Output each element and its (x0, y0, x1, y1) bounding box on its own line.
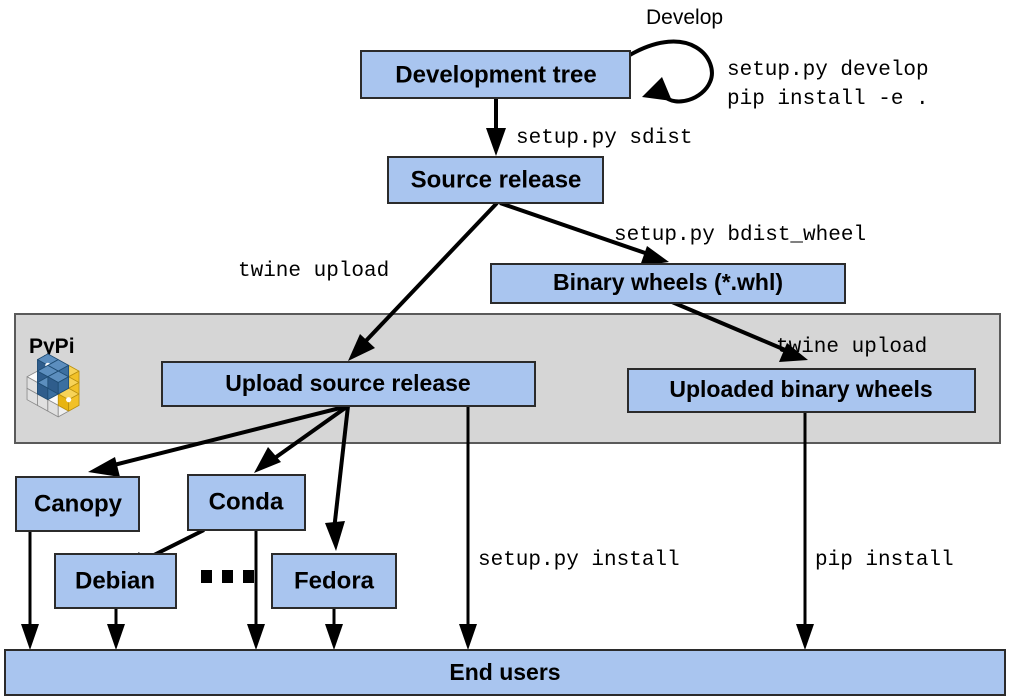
arrowhead (486, 128, 506, 156)
packaging-flow-diagram: PyPi (0, 0, 1009, 698)
node-conda-label: Conda (209, 488, 284, 515)
node-source-release-label: Source release (411, 166, 582, 193)
edge-label-setup-bdist-wheel: setup.py bdist_wheel (614, 224, 866, 247)
edge-label-setup-sdist: setup.py sdist (516, 127, 692, 150)
arrowhead (325, 624, 343, 650)
arrowhead (796, 624, 814, 650)
node-conda[interactable]: Conda (188, 475, 305, 530)
node-upload-source-release[interactable]: Upload source release (162, 362, 535, 406)
edge-upload-wheels-to-endusers (796, 412, 814, 650)
node-end-users-label: End users (449, 659, 560, 685)
pypi-group-label: PyPi (29, 335, 75, 358)
arrowhead (247, 624, 265, 650)
node-debian[interactable]: Debian (55, 554, 176, 608)
edge-label-pip-install: pip install (815, 549, 954, 572)
edge-label-setup-develop: setup.py develop (727, 59, 929, 82)
edge-label-twine-upload-wheels: twine upload (776, 336, 927, 359)
node-end-users[interactable]: End users (5, 650, 1005, 695)
node-fedora[interactable]: Fedora (272, 554, 396, 608)
node-upload-source-release-label: Upload source release (225, 370, 470, 396)
arrowhead (88, 457, 120, 477)
node-fedora-label: Fedora (294, 567, 375, 594)
node-binary-wheels[interactable]: Binary wheels (*.whl) (491, 264, 845, 303)
edge-debian-to-endusers (107, 608, 125, 650)
edge-label-develop: Develop (646, 6, 723, 29)
node-binary-wheels-label: Binary wheels (*.whl) (553, 269, 783, 295)
edge-conda-to-endusers (247, 530, 265, 650)
edge-label-twine-upload-source: twine upload (238, 260, 389, 283)
node-development-tree-label: Development tree (395, 61, 596, 88)
edge-canopy-to-endusers (21, 531, 39, 650)
arrowhead (21, 624, 39, 650)
edge-develop-self-loop (628, 42, 712, 102)
ellipsis-more-distros (201, 570, 254, 583)
arrowhead (254, 447, 281, 473)
arrowhead (459, 624, 477, 650)
arrowhead (325, 521, 345, 551)
node-uploaded-binary-wheels[interactable]: Uploaded binary wheels (628, 369, 975, 412)
edge-fedora-to-endusers (325, 608, 343, 650)
edge-label-setup-install: setup.py install (478, 549, 680, 572)
arrowhead (107, 624, 125, 650)
edge-label-pip-install-editable: pip install -e . (727, 88, 929, 111)
node-debian-label: Debian (75, 567, 155, 594)
node-canopy-label: Canopy (34, 490, 123, 517)
edge-devtree-to-source (486, 97, 506, 156)
node-uploaded-binary-wheels-label: Uploaded binary wheels (669, 376, 932, 402)
node-source-release[interactable]: Source release (388, 157, 603, 203)
node-development-tree[interactable]: Development tree (361, 51, 630, 98)
node-canopy[interactable]: Canopy (16, 477, 139, 531)
arrowhead (642, 77, 672, 101)
